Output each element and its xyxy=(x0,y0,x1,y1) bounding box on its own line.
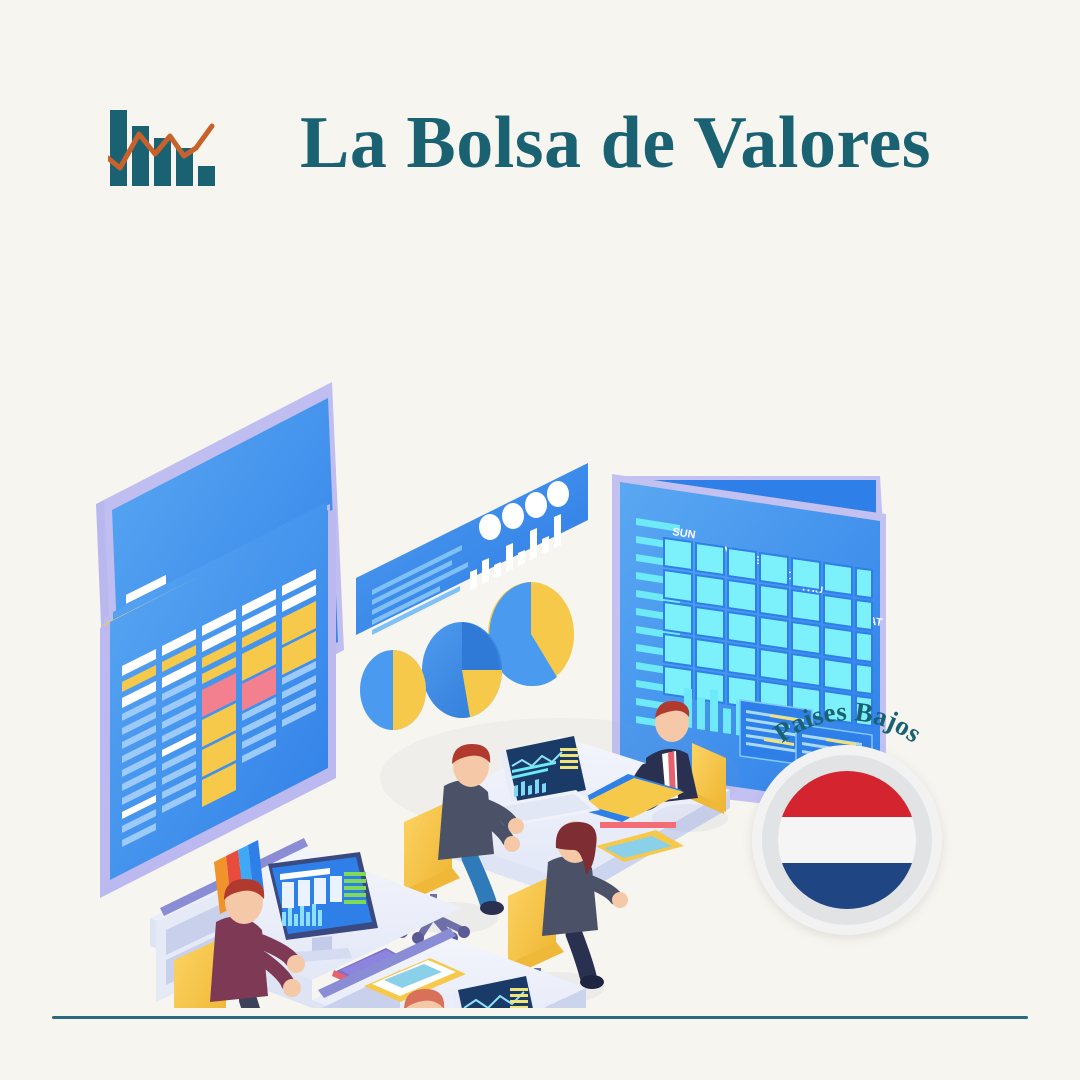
poster-canvas: La Bolsa de Valores xyxy=(0,0,1080,1080)
header: La Bolsa de Valores xyxy=(0,0,1080,230)
page-title: La Bolsa de Valores xyxy=(300,97,931,189)
country-badge: Paises Bajos xyxy=(740,690,955,935)
country-label: Paises Bajos xyxy=(768,696,927,748)
flag-band-white xyxy=(778,817,916,863)
bottom-divider xyxy=(52,1016,1028,1019)
pie-chart-medium xyxy=(422,622,502,718)
bar-chart-logo-icon xyxy=(108,100,230,188)
country-label-text: Paises Bajos xyxy=(768,696,927,748)
pie-chart-small xyxy=(360,650,426,730)
netherlands-flag-icon xyxy=(778,771,916,909)
